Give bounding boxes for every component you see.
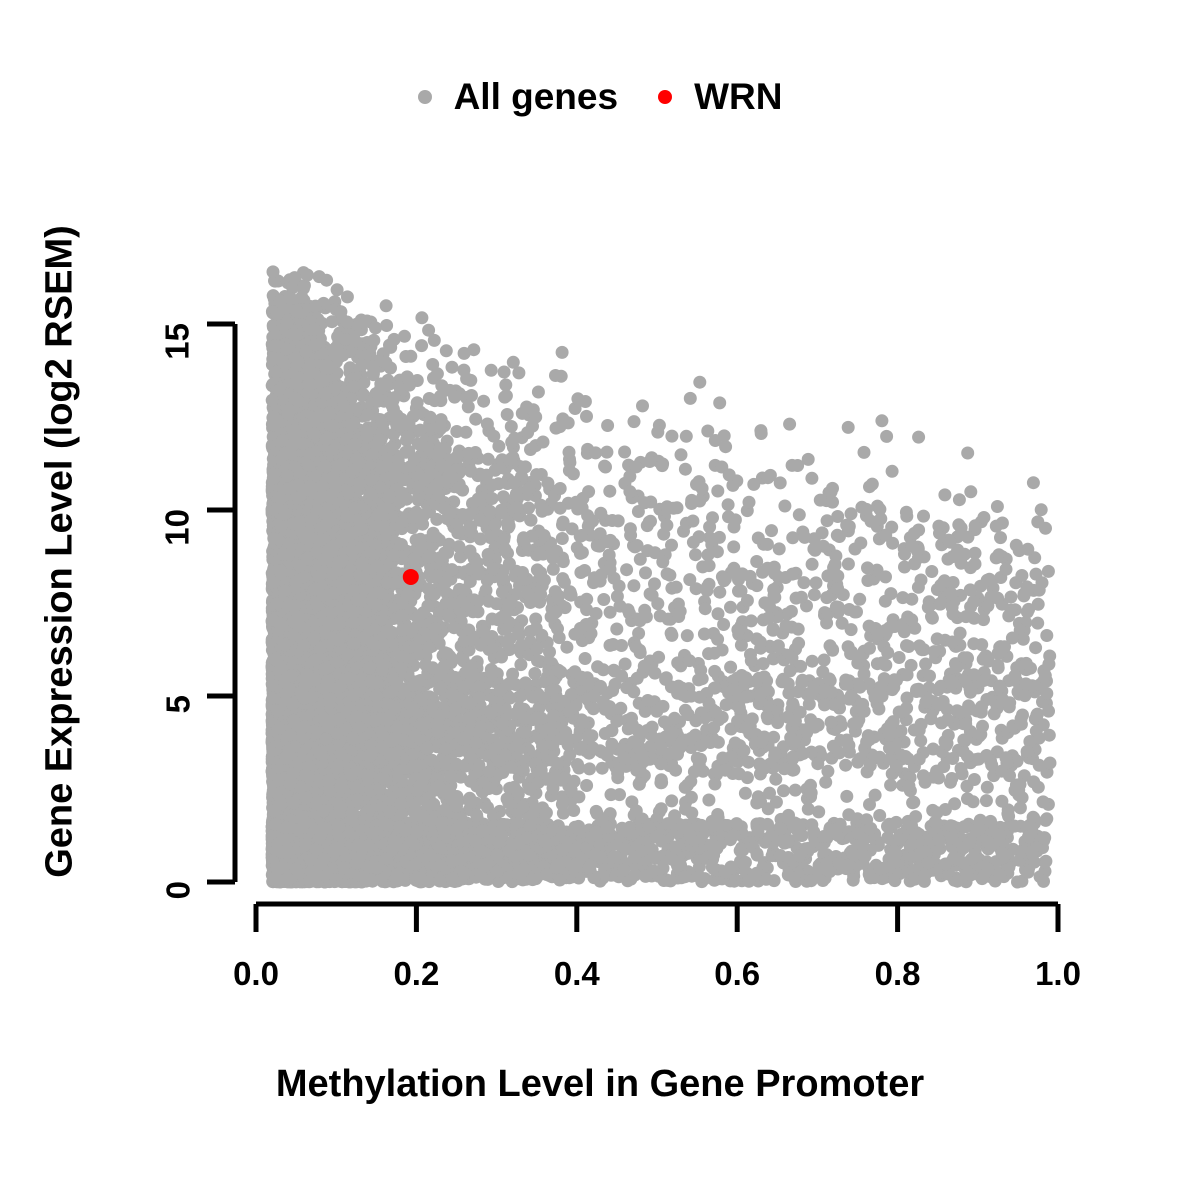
x-tick-label: 0.4 bbox=[554, 955, 600, 993]
y-tick-label: 5 bbox=[159, 695, 197, 713]
plot-canvas bbox=[0, 0, 1200, 1200]
wrn-data-point bbox=[403, 569, 419, 585]
x-tick-label: 0.2 bbox=[393, 955, 439, 993]
scatter-plot-figure: All genes WRN Methylation Level in Gene … bbox=[0, 0, 1200, 1200]
y-axis-title: Gene Expression Level (log2 RSEM) bbox=[39, 0, 82, 1152]
highlight-point-layer bbox=[403, 569, 419, 585]
x-tick-label: 1.0 bbox=[1035, 955, 1081, 993]
x-tick-label: 0.0 bbox=[233, 955, 279, 993]
x-tick-label: 0.6 bbox=[714, 955, 760, 993]
y-tick-label: 0 bbox=[159, 881, 197, 899]
x-axis-title: Methylation Level in Gene Promoter bbox=[0, 1063, 1200, 1106]
x-tick-label: 0.8 bbox=[875, 955, 921, 993]
y-tick-label: 15 bbox=[159, 323, 197, 360]
y-tick-label: 10 bbox=[159, 509, 197, 546]
